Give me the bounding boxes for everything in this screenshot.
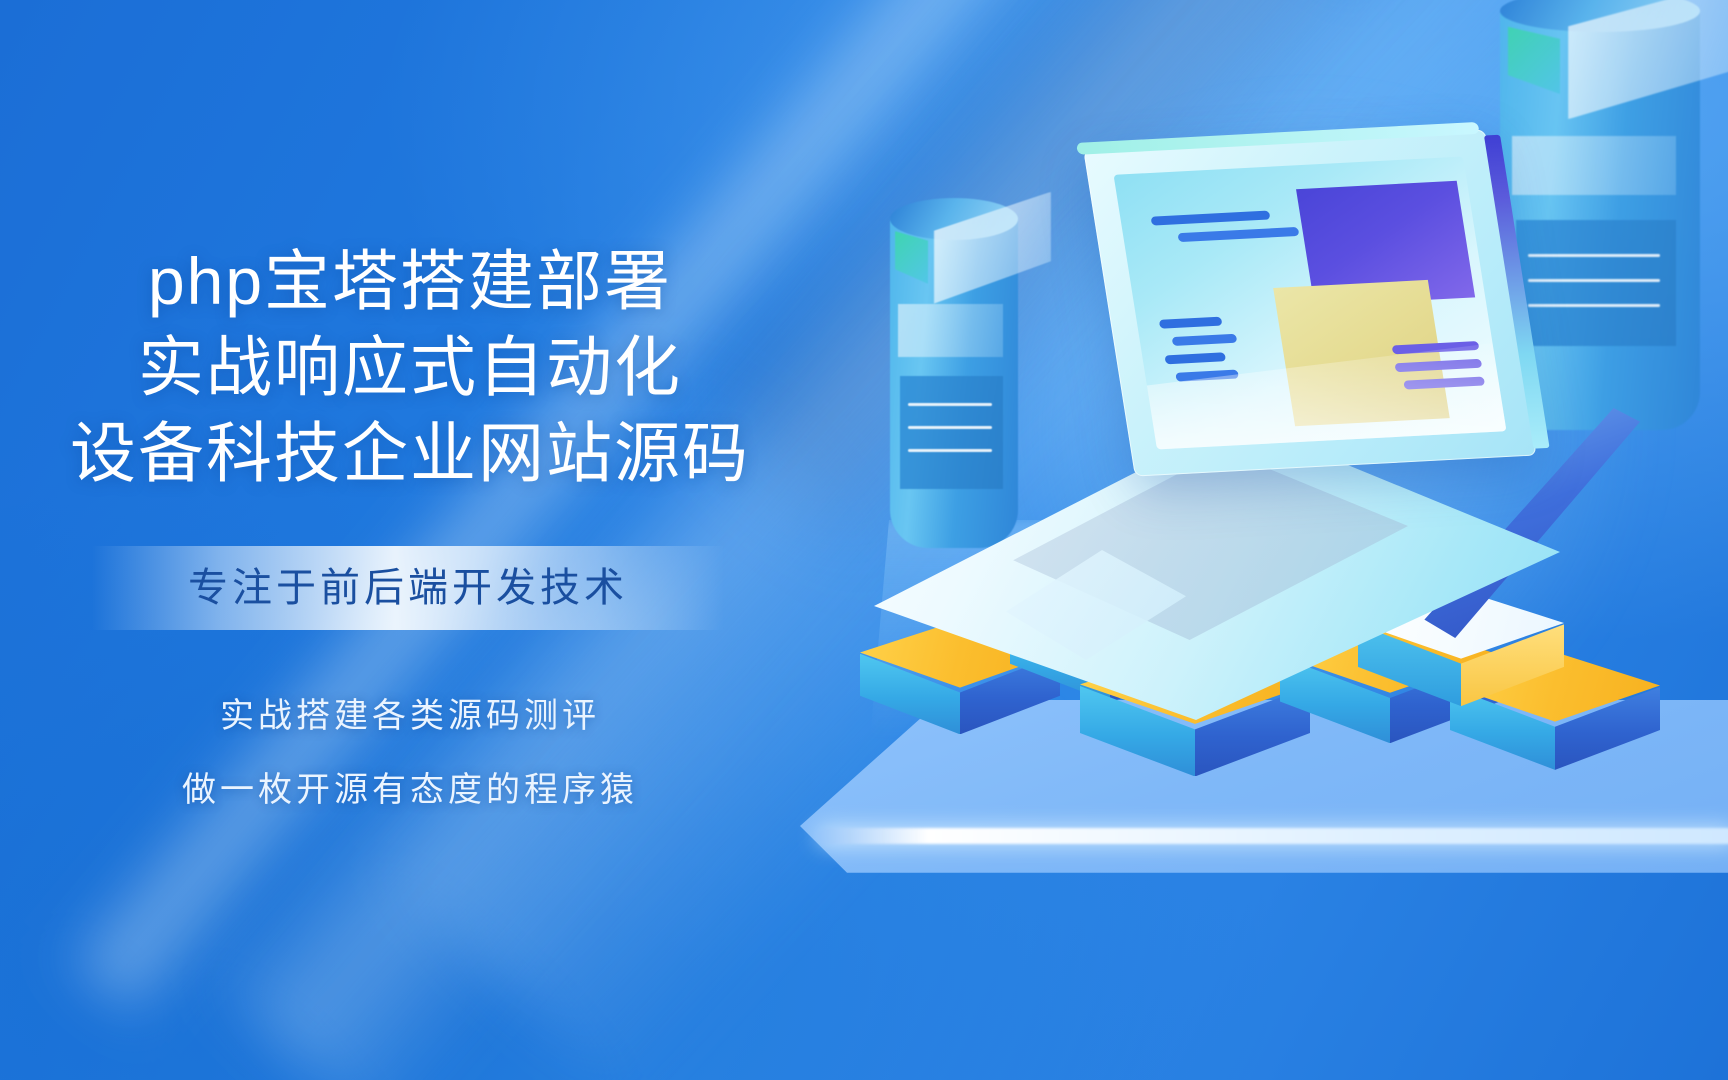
screen-text-line bbox=[1177, 227, 1299, 242]
screen-text-line bbox=[1159, 317, 1223, 329]
laptop-lid-rim bbox=[1076, 122, 1480, 155]
screen-text-line bbox=[1172, 334, 1238, 346]
laptop-lid bbox=[1083, 130, 1536, 477]
platform-glow-edge bbox=[818, 828, 1728, 844]
promo-banner: php宝塔搭建部署 实战响应式自动化 设备科技企业网站源码 专注于前后端开发技术… bbox=[0, 0, 1728, 1080]
laptop-screen bbox=[1114, 157, 1507, 450]
isometric-laptop bbox=[820, 120, 1580, 740]
subtitle-text: 专注于前后端开发技术 bbox=[92, 559, 724, 617]
hero-illustration bbox=[760, 0, 1728, 1080]
screen-text-line bbox=[1151, 211, 1271, 226]
headline-line-3: 设备科技企业网站源码 bbox=[0, 420, 820, 486]
text-column: php宝塔搭建部署 实战响应式自动化 设备科技企业网站源码 专注于前后端开发技术… bbox=[0, 0, 820, 1080]
headline-line-2: 实战响应式自动化 bbox=[0, 334, 820, 400]
cylinder-notch bbox=[1508, 27, 1560, 94]
screen-text-line bbox=[1164, 352, 1226, 364]
tagline-line-1: 实战搭建各类源码测评 bbox=[0, 688, 820, 737]
headline-line-1: php宝塔搭建部署 bbox=[0, 248, 820, 314]
tagline-line-2: 做一枚开源有态度的程序猿 bbox=[0, 762, 820, 811]
